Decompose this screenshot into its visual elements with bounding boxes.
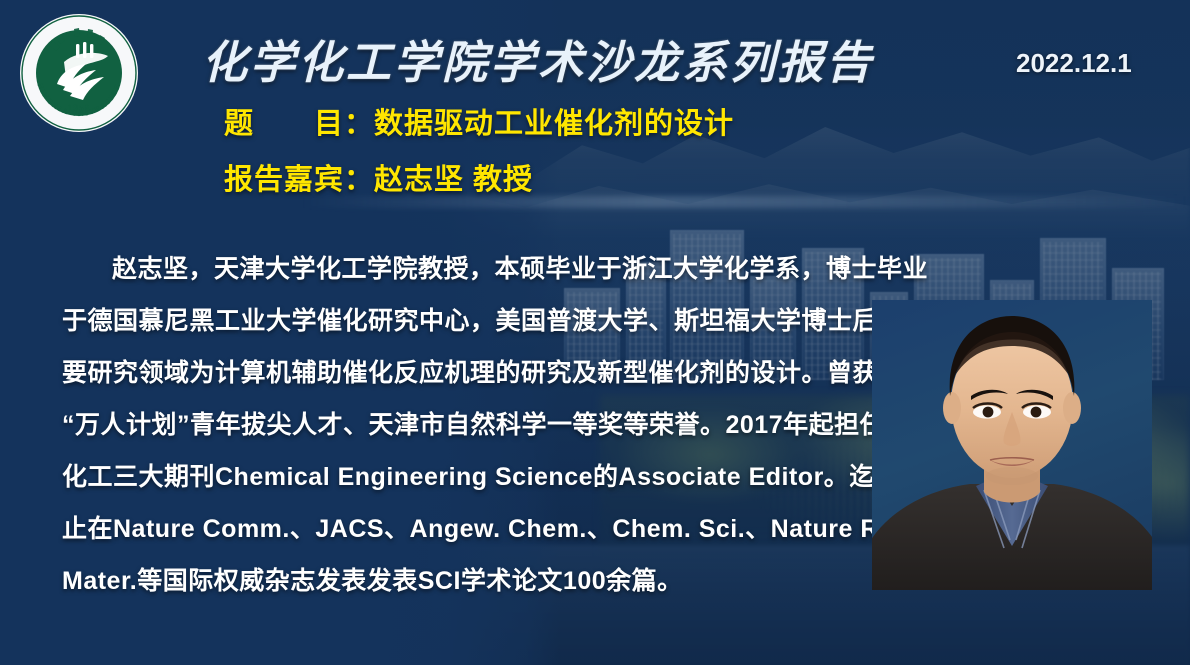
bio-line: 止在Nature Comm.、JACS、Angew. Chem.、Chem. S… xyxy=(62,503,892,555)
bio-line: Mater.等国际权威杂志发表发表SCI学术论文100余篇。 xyxy=(62,555,892,607)
portrait-illustration xyxy=(872,300,1152,590)
talk-subject: 题 目：数据驱动工业催化剂的设计 xyxy=(224,100,734,142)
speaker-name: 报告嘉宾：赵志坚 教授 xyxy=(224,156,533,198)
bio-line: 化工三大期刊Chemical Engineering Science的Assoc… xyxy=(62,451,892,503)
university-logo: NINGXIA UNIVERSITY 1958 xyxy=(16,10,142,136)
bio-line: 于德国慕尼黑工业大学催化研究中心，美国普渡大学、斯坦福大学博士后。主 xyxy=(62,295,892,347)
seminar-poster: NINGXIA UNIVERSITY 1958 化学化工学院学术沙龙系列报告 2… xyxy=(0,0,1190,665)
page-title: 化学化工学院学术沙龙系列报告 xyxy=(202,26,874,91)
bio-line: 赵志坚，天津大学化工学院教授，本硕毕业于浙江大学化学系，博士毕业 xyxy=(62,243,892,295)
logo-founded-year: 1958 xyxy=(68,104,91,114)
speaker-biography: 赵志坚，天津大学化工学院教授，本硕毕业于浙江大学化学系，博士毕业 于德国慕尼黑工… xyxy=(62,243,892,607)
event-date: 2022.12.1 xyxy=(1016,48,1132,79)
bio-line: “万人计划”青年拔尖人才、天津市自然科学一等奖等荣誉。2017年起担任 xyxy=(62,399,892,451)
speaker-portrait xyxy=(872,300,1152,590)
bio-line: 要研究领域为计算机辅助催化反应机理的研究及新型催化剂的设计。曾获 xyxy=(62,347,892,399)
